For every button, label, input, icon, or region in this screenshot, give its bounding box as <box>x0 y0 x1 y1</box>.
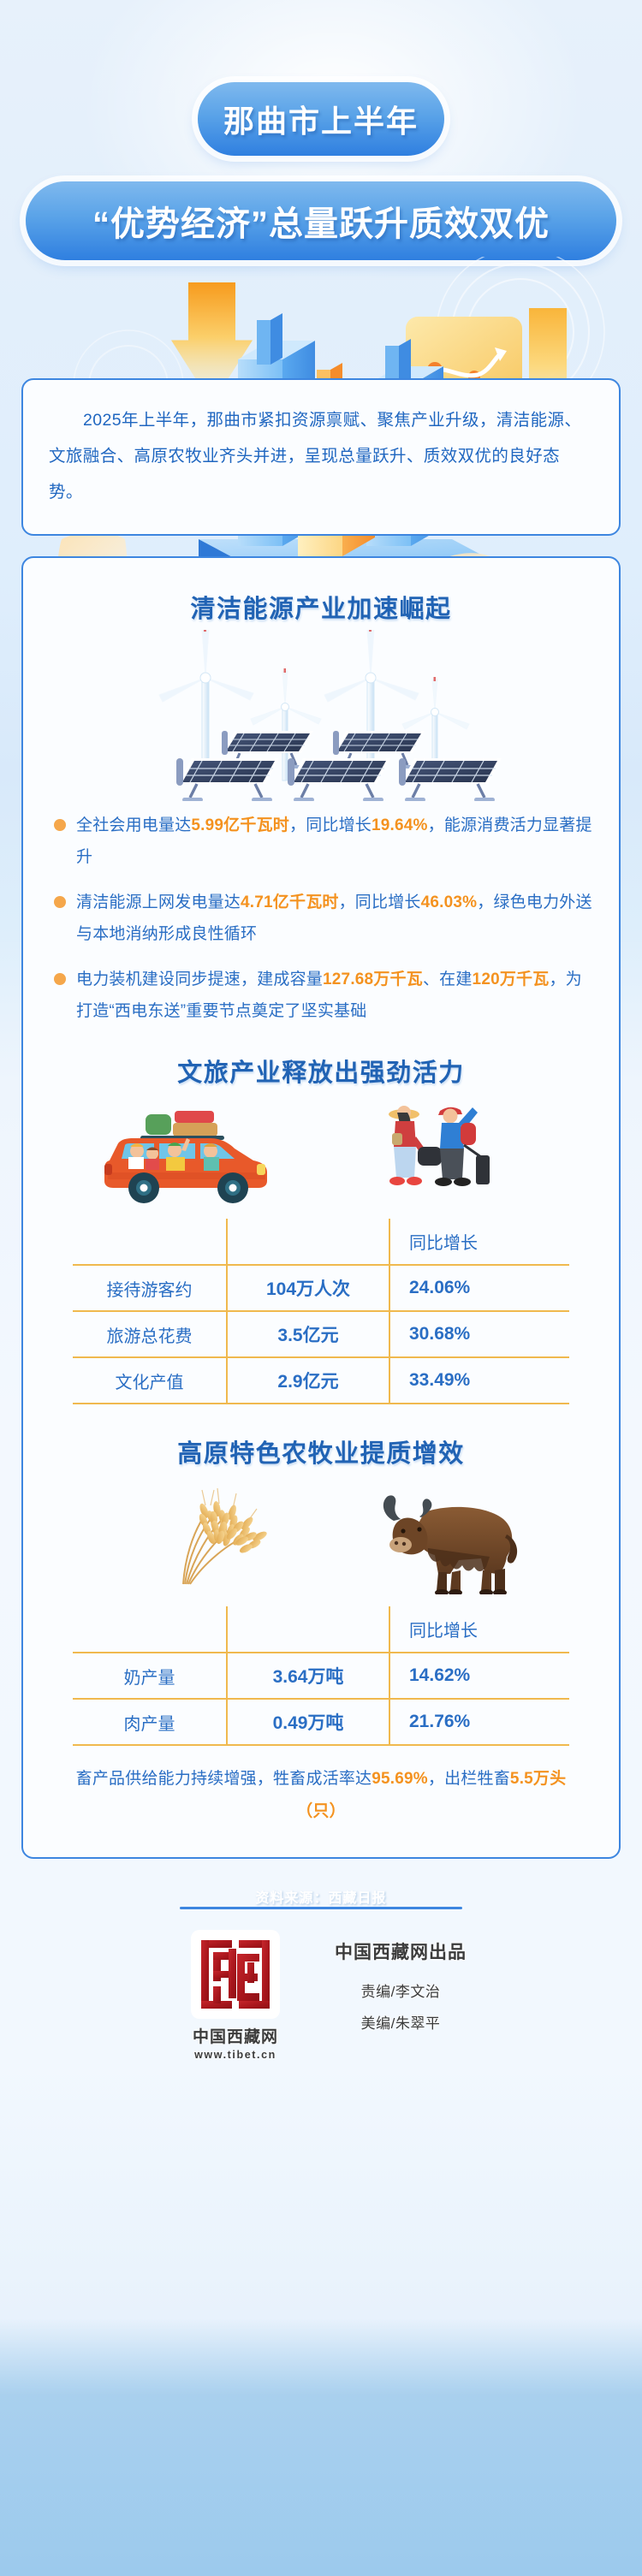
cell-growth: 24.06% <box>389 1265 569 1311</box>
cell-growth: 14.62% <box>389 1653 569 1699</box>
cell-value: 0.49万吨 <box>227 1699 389 1745</box>
intro-paragraph: 2025年上半年，那曲市紧扣资源禀赋、聚焦产业升级，清洁能源、文旅融合、高原农牧… <box>49 402 593 510</box>
section-title-agriculture: 高原特色农牧业提质增效 <box>42 1433 600 1469</box>
wheat-icon <box>183 1488 270 1584</box>
cell-label: 接待游客约 <box>73 1265 227 1311</box>
header-cell-value <box>227 1606 389 1653</box>
header-cell-metric <box>73 1606 227 1653</box>
table-row: 接待游客约 104万人次 24.06% <box>73 1265 569 1311</box>
logo-block: 中国西藏网 www.tibet.cn <box>175 1930 295 2061</box>
section-title-clean-energy: 清洁能源产业加速崛起 <box>42 589 600 625</box>
list-item: 电力装机建设同步提速，建成容量127.68万千瓦、在建120万千瓦，为打造“西电… <box>54 964 593 1027</box>
bullet-text: 电力装机建设同步提速，建成容量127.68万千瓦、在建120万千瓦，为打造“西电… <box>76 964 593 1027</box>
agriculture-illustration <box>42 1475 600 1594</box>
cell-value: 104万人次 <box>227 1265 389 1311</box>
table-row: 肉产量 0.49万吨 21.76% <box>73 1699 569 1745</box>
body-card: 清洁能源产业加速崛起 <box>21 556 621 1859</box>
tibet-net-seal-icon <box>191 1930 280 2019</box>
produced-by: 中国西藏网出品 <box>335 1938 467 1964</box>
clean-energy-bullets: 全社会用电量达5.99亿千瓦时，同比增长19.64%，能源消费活力显著提升 清洁… <box>54 810 593 1027</box>
cell-value: 3.64万吨 <box>227 1653 389 1699</box>
closing-paragraph: 畜产品供给能力持续增强，牲畜成活率达95.69%，出栏牲畜5.5万头（只） <box>68 1763 574 1828</box>
header-cell-metric <box>73 1219 227 1265</box>
bullet-dot-icon <box>54 819 66 831</box>
source-divider <box>180 1907 462 1909</box>
header-cell-growth: 同比增长 <box>389 1606 569 1653</box>
editor-credit: 责编/李文治 <box>335 1979 467 2001</box>
section-title-tourism: 文旅产业释放出强劲活力 <box>42 1053 600 1089</box>
header-cell-growth: 同比增长 <box>389 1219 569 1265</box>
tourism-table: 同比增长 接待游客约 104万人次 24.06% 旅游总花费 3.5亿元 30.… <box>73 1219 569 1404</box>
bullet-dot-icon <box>54 896 66 908</box>
tourism-illustration <box>42 1095 600 1207</box>
subtitle-pill: “优势经济”总量跃升质效双优 <box>26 181 616 260</box>
logo-name: 中国西藏网 <box>193 2024 278 2047</box>
yak-icon <box>383 1495 517 1594</box>
cell-label: 旅游总花费 <box>73 1311 227 1357</box>
footer: 中国西藏网 www.tibet.cn 中国西藏网出品 责编/李文治 美编/朱翠平 <box>0 1930 642 2095</box>
intro-card: 2025年上半年，那曲市紧扣资源禀赋、聚焦产业升级，清洁能源、文旅融合、高原农牧… <box>21 378 621 536</box>
header-cell-value <box>227 1219 389 1265</box>
table-row: 文化产值 2.9亿元 33.49% <box>73 1357 569 1404</box>
header-zone: 那曲市上半年 “优势经济”总量跃升质效双优 <box>0 0 642 368</box>
source-section: 资料来源：西藏日报 <box>0 1881 642 1909</box>
list-item: 清洁能源上网发电量达4.71亿千瓦时，同比增长46.03%，绿色电力外送与本地消… <box>54 887 593 950</box>
bullet-text: 清洁能源上网发电量达4.71亿千瓦时，同比增长46.03%，绿色电力外送与本地消… <box>76 887 593 950</box>
cell-label: 文化产值 <box>73 1357 227 1404</box>
cell-growth: 30.68% <box>389 1311 569 1357</box>
list-item: 全社会用电量达5.99亿千瓦时，同比增长19.64%，能源消费活力显著提升 <box>54 810 593 873</box>
logo-url: www.tibet.cn <box>194 2049 276 2061</box>
agriculture-table: 同比增长 奶产量 3.64万吨 14.62% 肉产量 0.49万吨 21.76% <box>73 1606 569 1746</box>
table-row-header: 同比增长 <box>73 1219 569 1265</box>
table-row: 旅游总花费 3.5亿元 30.68% <box>73 1311 569 1357</box>
cell-value: 2.9亿元 <box>227 1357 389 1404</box>
bullet-dot-icon <box>54 973 66 985</box>
cell-growth: 21.76% <box>389 1699 569 1745</box>
cell-growth: 33.49% <box>389 1357 569 1404</box>
table-row-header: 同比增长 <box>73 1606 569 1653</box>
main-title-pill: 那曲市上半年 <box>198 82 444 156</box>
infographic-page: 那曲市上半年 “优势经济”总量跃升质效双优 <box>0 0 642 2576</box>
cell-value: 3.5亿元 <box>227 1311 389 1357</box>
cell-label: 奶产量 <box>73 1653 227 1699</box>
designer-credit: 美编/朱翠平 <box>335 2011 467 2033</box>
bullet-text: 全社会用电量达5.99亿千瓦时，同比增长19.64%，能源消费活力显著提升 <box>76 810 593 873</box>
credits-block: 中国西藏网出品 责编/李文治 美编/朱翠平 <box>335 1930 467 2043</box>
cell-label: 肉产量 <box>73 1699 227 1745</box>
source-text: 资料来源：西藏日报 <box>193 1881 449 1907</box>
table-row: 奶产量 3.64万吨 14.62% <box>73 1653 569 1699</box>
wind-solar-illustration <box>42 630 600 801</box>
